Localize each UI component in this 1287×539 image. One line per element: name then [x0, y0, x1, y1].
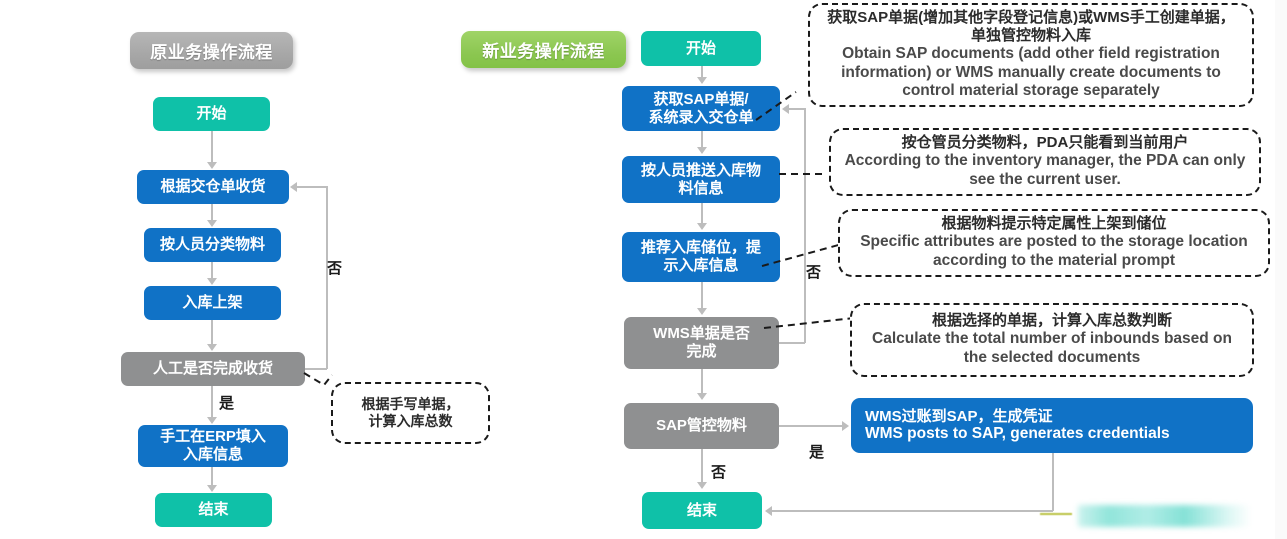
arrowhead-old-receive-sort: [207, 220, 217, 227]
old-edge-label-no: 否: [327, 257, 342, 278]
new-node-suggest: 推荐入库储位，提 示入库信息: [622, 232, 780, 282]
connector-old-erp-end: [211, 467, 213, 486]
connector-old-receive-sort: [211, 204, 213, 221]
wms-post-en: WMS posts to SAP, generates credentials: [865, 425, 1170, 443]
blurred-underline: [1040, 513, 1072, 515]
page-right-edge: [1275, 0, 1287, 539]
callout-sap-doc-en: Obtain SAP documents (add other field re…: [818, 45, 1244, 101]
wms-post-cn: WMS过账到SAP，生成凭证: [865, 408, 1053, 426]
new-node-wms-post: WMS过账到SAP，生成凭证 WMS posts to SAP, generat…: [851, 398, 1253, 453]
callout-storage: 根据物料提示特定属性上架到储位 Specific attributes are …: [838, 209, 1270, 277]
connector-old-sort-shelve: [211, 262, 213, 279]
new-node-sap-ctrl: SAP管控物料: [624, 403, 779, 449]
connector-old-loop-top: [297, 186, 327, 188]
old-callout-line2: 计算入库总数: [369, 413, 453, 430]
connector-post-to-end: [772, 510, 1053, 512]
arrowhead-old-start-receive: [207, 162, 217, 169]
new-node-wms-done: WMS单据是否 完成: [624, 317, 779, 369]
old-node-check: 人工是否完成收货: [121, 352, 305, 386]
callout-pda-cn: 按仓管员分类物料，PDA只能看到当前用户: [902, 134, 1189, 152]
new-edge-label-no-sap: 否: [711, 461, 726, 482]
old-flow-title: 原业务操作流程: [130, 32, 293, 69]
connector-old-shelve-check: [211, 320, 213, 345]
arrowhead-new-sapctrl-end: [697, 482, 707, 489]
arrowhead-new-wms-sapctrl: [697, 393, 707, 400]
new-flow-title: 新业务操作流程: [461, 31, 626, 68]
connector-new-sapdoc-push: [701, 131, 703, 147]
callout-calc: 根据选择的单据，计算入库总数判断 Calculate the total num…: [850, 303, 1254, 377]
connector-old-start-receive: [211, 131, 213, 163]
old-node-start: 开始: [153, 97, 270, 131]
new-edge-label-yes-sap: 是: [809, 441, 824, 462]
old-node-end: 结束: [155, 493, 272, 527]
arrowhead-old-check-erp: [207, 417, 217, 424]
connector-new-sapctrl-post: [779, 425, 843, 427]
arrowhead-new-suggest-wms: [697, 308, 707, 315]
old-node-shelve: 入库上架: [144, 286, 281, 320]
leader-callout-calc: [762, 312, 862, 360]
blurred-highlight-bar: [1078, 505, 1250, 527]
connector-new-wms-sapctrl: [701, 369, 703, 394]
old-edge-label-yes: 是: [219, 392, 234, 413]
connector-new-loop-vertical: [804, 108, 806, 343]
arrowhead-new-sapctrl-post: [842, 421, 849, 431]
old-node-receive: 根据交仓单收货: [137, 170, 289, 204]
callout-sap-doc-cn: 获取SAP单据(增加其他字段登记信息)或WMS手工创建单据，单独管控物料入库: [818, 9, 1244, 45]
leader-callout-pda: [777, 160, 837, 190]
callout-pda-en: According to the inventory manager, the …: [839, 152, 1251, 189]
flowchart-canvas: 原业务操作流程 开始 根据交仓单收货 按人员分类物料 入库上架 人工是否完成收货…: [0, 0, 1287, 539]
callout-calc-cn: 根据选择的单据，计算入库总数判断: [932, 312, 1172, 330]
callout-sap-doc: 获取SAP单据(增加其他字段登记信息)或WMS手工创建单据，单独管控物料入库 O…: [808, 3, 1254, 107]
old-callout-line1: 根据手写单据，: [362, 396, 460, 413]
arrowhead-old-sort-shelve: [207, 278, 217, 285]
arrowhead-post-to-end: [765, 506, 772, 516]
new-node-end: 结束: [642, 492, 762, 529]
old-node-erp: 手工在ERP填入 入库信息: [138, 425, 288, 467]
callout-storage-en: Specific attributes are posted to the st…: [848, 233, 1260, 270]
connector-new-push-suggest: [701, 203, 703, 224]
arrowhead-old-loop-receive: [290, 182, 297, 192]
arrowhead-new-sapdoc-push: [697, 147, 707, 154]
new-node-push: 按人员推送入库物 料信息: [622, 156, 780, 203]
connector-old-check-erp: [211, 386, 213, 418]
arrowhead-old-erp-end: [207, 485, 217, 492]
leader-callout-storage: [760, 238, 850, 278]
arrowhead-old-shelve-check: [207, 344, 217, 351]
arrowhead-new-start-sapdoc: [697, 77, 707, 84]
connector-post-down: [1052, 453, 1054, 511]
arrowhead-new-push-suggest: [697, 223, 707, 230]
connector-new-suggest-wms: [701, 282, 703, 309]
new-node-start: 开始: [641, 31, 761, 66]
callout-storage-cn: 根据物料提示特定属性上架到储位: [941, 215, 1166, 233]
old-node-sort: 按人员分类物料: [144, 228, 281, 262]
connector-new-sapctrl-end: [701, 449, 703, 483]
callout-calc-en: Calculate the total number of inbounds b…: [860, 330, 1244, 367]
old-flow-callout: 根据手写单据， 计算入库总数: [331, 382, 490, 444]
callout-pda: 按仓管员分类物料，PDA只能看到当前用户 According to the in…: [829, 128, 1261, 196]
